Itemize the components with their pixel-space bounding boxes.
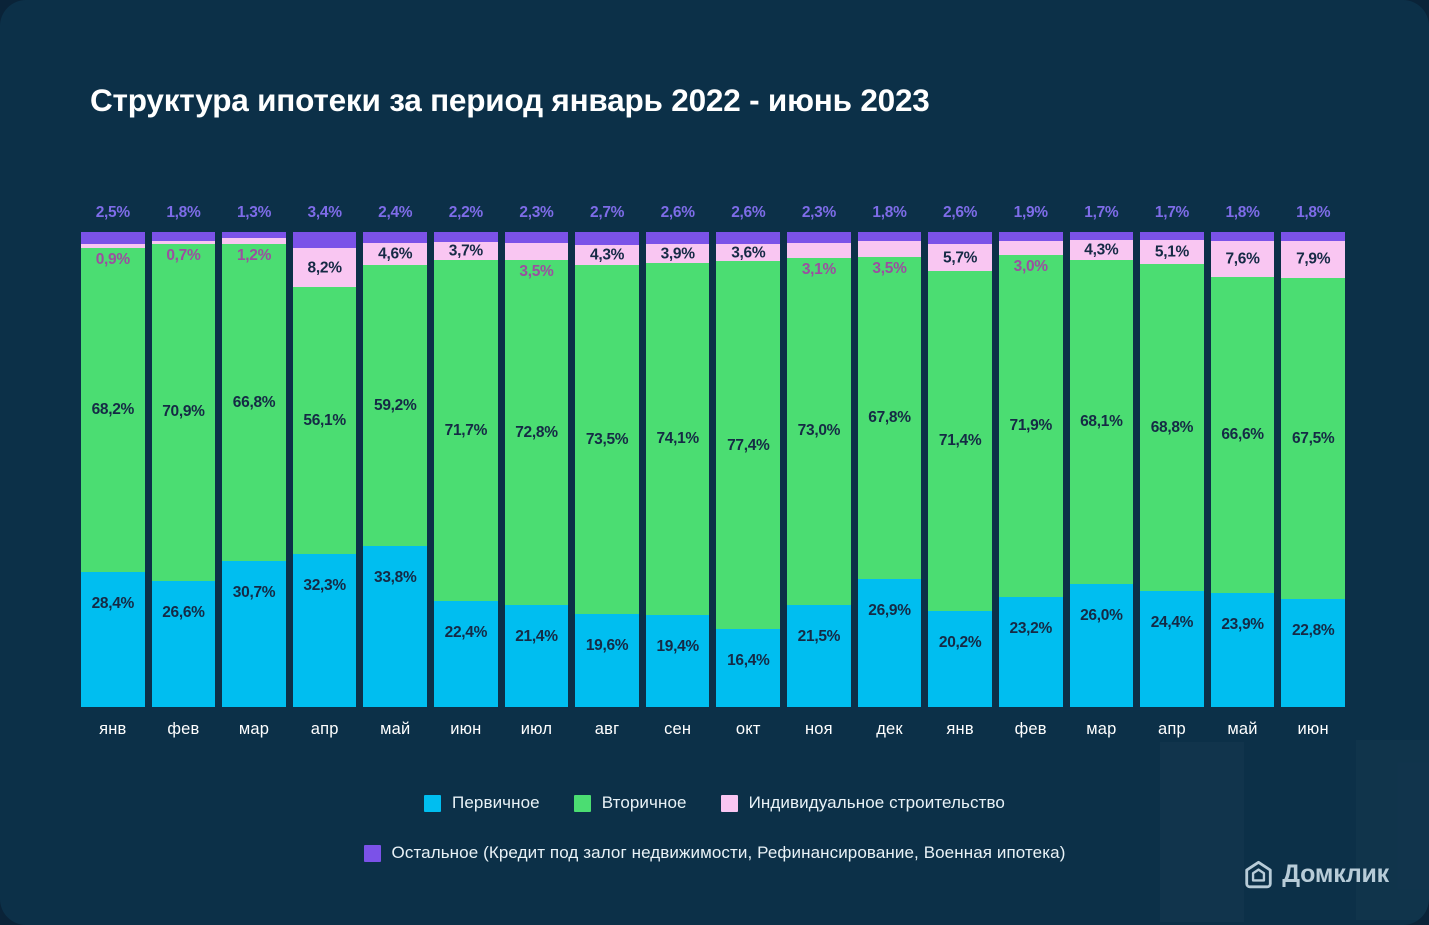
bar-segment-label-primary: 20,2% [939, 635, 981, 651]
x-axis-tick-дек-2022: дек [858, 720, 922, 739]
x-axis-tick-июл-2022: июл [505, 720, 569, 739]
bar-segment-label-secondary: 67,8% [868, 410, 910, 426]
bar-column[interactable]: 2,6%3,9%74,1%19,4% [646, 232, 710, 707]
bar-segment-label-izhs: 3,6% [731, 245, 765, 261]
bar-segment-primary[interactable]: 23,9% [1211, 593, 1275, 707]
bar-segment-label-other: 2,3% [802, 205, 836, 221]
bar-segment-label-primary: 33,8% [374, 570, 416, 586]
bar-segment-primary[interactable]: 21,4% [505, 605, 569, 707]
legend-label: Вторичное [602, 793, 687, 813]
bar-segment-label-izhs: 5,7% [943, 250, 977, 266]
bar-segment-label-other: 1,8% [1225, 205, 1259, 221]
bar-segment-label-other: 2,2% [449, 205, 483, 221]
bar-segment-label-secondary: 73,0% [798, 423, 840, 439]
x-axis-tick-фев-2022: фев [152, 720, 216, 739]
bar-segment-primary[interactable]: 26,0% [1070, 584, 1134, 707]
bar-segment-izhs[interactable]: 7,9% [1281, 241, 1345, 279]
bar-segment-other[interactable] [1070, 232, 1134, 240]
bar-segment-label-secondary: 71,4% [939, 433, 981, 449]
bar-segment-primary[interactable]: 33,8% [363, 546, 427, 707]
bar-segment-primary[interactable]: 30,7% [222, 561, 286, 707]
bar-segment-primary[interactable]: 23,2% [999, 597, 1063, 707]
bar-segment-secondary[interactable]: 73,5% [575, 265, 639, 614]
bar-segment-label-secondary: 72,8% [515, 425, 557, 441]
bar-segment-label-other: 2,7% [590, 205, 624, 221]
bar-segment-label-primary: 26,0% [1080, 608, 1122, 624]
bar-segment-other[interactable] [928, 232, 992, 244]
bar-segment-label-izhs: 0,7% [166, 248, 200, 264]
legend-label: Остальное (Кредит под залог недвижимости… [392, 843, 1066, 863]
house-pentagon-icon [1244, 860, 1273, 889]
bar-segment-label-izhs: 0,9% [96, 252, 130, 268]
bar-segment-label-izhs: 4,3% [1084, 243, 1118, 259]
bar-segment-other[interactable] [434, 232, 498, 242]
bar-segment-label-izhs: 3,1% [802, 262, 836, 278]
bar-segment-secondary[interactable]: 70,9% [152, 244, 216, 581]
bar-segment-label-other: 1,8% [872, 205, 906, 221]
bar-segment-other[interactable] [81, 232, 145, 244]
bar-segment-secondary[interactable]: 71,4% [928, 271, 992, 610]
bar-column[interactable]: 3,4%8,2%56,1%32,3% [293, 232, 357, 707]
bar-segment-primary[interactable]: 26,6% [152, 581, 216, 707]
bar-segment-primary[interactable]: 19,4% [646, 615, 710, 707]
legend-item-2[interactable]: Индивидуальное строительство [721, 793, 1005, 813]
bar-segment-label-izhs: 4,3% [590, 247, 624, 263]
bar-column[interactable]: 1,8%3,5%67,8%26,9% [858, 232, 922, 707]
bar-segment-secondary[interactable]: 56,1% [293, 287, 357, 553]
bar-segment-label-secondary: 71,9% [1010, 418, 1052, 434]
bar-column[interactable]: 1,8%7,6%66,6%23,9% [1211, 232, 1275, 707]
bar-segment-izhs[interactable]: 3,6% [716, 244, 780, 261]
bar-segment-label-secondary: 68,1% [1080, 414, 1122, 430]
bar-segment-secondary[interactable]: 68,8% [1140, 264, 1204, 591]
bar-segment-label-primary: 23,2% [1010, 621, 1052, 637]
bar-segment-primary[interactable]: 26,9% [858, 579, 922, 707]
bar-segment-label-secondary: 74,1% [656, 431, 698, 447]
bar-segment-label-izhs: 3,0% [1014, 259, 1048, 275]
bar-segment-label-izhs: 4,6% [378, 247, 412, 263]
legend-row-primary: ПервичноеВторичноеИндивидуальное строите… [0, 793, 1429, 813]
x-axis-tick-окт-2022: окт [716, 720, 780, 739]
chart-card: Структура ипотеки за период январь 2022 … [0, 0, 1429, 925]
bar-column[interactable]: 1,8%0,7%70,9%26,6% [152, 232, 216, 707]
bar-column[interactable]: 1,7%5,1%68,8%24,4% [1140, 232, 1204, 707]
bar-segment-primary[interactable]: 19,6% [575, 614, 639, 707]
legend-swatch-icon [574, 795, 591, 812]
bar-segment-secondary[interactable]: 72,8% [505, 260, 569, 606]
bar-segment-other[interactable] [363, 232, 427, 243]
bar-segment-label-secondary: 71,7% [445, 423, 487, 439]
bar-segment-label-secondary: 56,1% [303, 413, 345, 429]
bar-segment-secondary[interactable]: 59,2% [363, 265, 427, 546]
bar-segment-label-secondary: 66,6% [1221, 427, 1263, 443]
bar-segment-label-primary: 26,6% [162, 605, 204, 621]
bar-segment-label-other: 2,3% [519, 205, 553, 221]
x-axis-tick-май-2023: май [1211, 720, 1275, 739]
bar-segment-izhs[interactable]: 4,3% [1070, 240, 1134, 260]
legend-row-secondary: Остальное (Кредит под залог недвижимости… [0, 843, 1429, 863]
bar-segment-label-other: 2,6% [731, 205, 765, 221]
bar-segment-izhs[interactable]: 7,6% [1211, 241, 1275, 277]
bar-column[interactable]: 1,7%4,3%68,1%26,0% [1070, 232, 1134, 707]
bar-segment-secondary[interactable]: 68,1% [1070, 260, 1134, 583]
bar-segment-izhs[interactable]: 8,2% [293, 248, 357, 287]
bar-segment-secondary[interactable]: 71,9% [999, 255, 1063, 597]
bar-segment-secondary[interactable]: 77,4% [716, 261, 780, 629]
bar-segment-label-secondary: 77,4% [727, 438, 769, 454]
x-axis-tick-мар-2023: мар [1070, 720, 1134, 739]
bar-segment-other[interactable] [858, 232, 922, 241]
bar-segment-label-izhs: 3,9% [661, 246, 695, 262]
stacked-bar-plot-area: 2,5%0,9%68,2%28,4%1,8%0,7%70,9%26,6%1,3%… [81, 232, 1345, 707]
bar-segment-label-other: 1,7% [1084, 205, 1118, 221]
bar-segment-label-secondary: 70,9% [162, 404, 204, 420]
background-watermark-panel-secondary [1160, 742, 1244, 922]
bar-segment-label-primary: 21,5% [798, 629, 840, 645]
bar-segment-label-secondary: 68,2% [92, 402, 134, 418]
bar-segment-label-secondary: 59,2% [374, 398, 416, 414]
x-axis-month-labels: янвфевмарапрмайиюниюлавгсеноктноядекянвф… [81, 720, 1345, 739]
bar-segment-label-izhs: 8,2% [308, 260, 342, 276]
bar-segment-label-other: 1,9% [1014, 205, 1048, 221]
legend-item-other-0[interactable]: Остальное (Кредит под залог недвижимости… [364, 843, 1066, 863]
bar-column[interactable]: 1,3%1,2%66,8%30,7% [222, 232, 286, 707]
bar-segment-secondary[interactable]: 66,8% [222, 244, 286, 561]
bar-segment-secondary[interactable]: 68,2% [81, 248, 145, 572]
bar-segment-primary[interactable]: 20,2% [928, 611, 992, 707]
bar-segment-primary[interactable]: 16,4% [716, 629, 780, 707]
bar-segment-label-primary: 22,8% [1292, 623, 1334, 639]
bar-segment-label-other: 2,4% [378, 205, 412, 221]
bar-column[interactable]: 2,6%3,6%77,4%16,4% [716, 232, 780, 707]
bar-segment-izhs[interactable]: 4,3% [575, 245, 639, 265]
bar-segment-other[interactable] [152, 232, 216, 241]
x-axis-tick-мар-2022: мар [222, 720, 286, 739]
x-axis-tick-янв-2023: янв [928, 720, 992, 739]
brand-name: Домклик [1282, 860, 1389, 889]
bar-segment-primary[interactable]: 28,4% [81, 572, 145, 707]
bar-segment-label-other: 2,6% [943, 205, 977, 221]
bar-segment-other[interactable] [999, 232, 1063, 241]
bar-segment-label-other: 1,8% [1296, 205, 1330, 221]
bar-column[interactable]: 1,9%3,0%71,9%23,2% [999, 232, 1063, 707]
legend-swatch-icon [364, 845, 381, 862]
bar-segment-izhs[interactable]: 3,9% [646, 244, 710, 263]
bar-segment-label-primary: 24,4% [1151, 615, 1193, 631]
bar-column[interactable]: 2,6%5,7%71,4%20,2% [928, 232, 992, 707]
bar-segment-label-izhs: 3,5% [519, 264, 553, 280]
bar-segment-izhs[interactable]: 5,7% [928, 244, 992, 271]
x-axis-tick-янв-2022: янв [81, 720, 145, 739]
bar-segment-primary[interactable]: 32,3% [293, 554, 357, 707]
bar-segment-izhs[interactable]: 3,5% [505, 243, 569, 260]
bar-column[interactable]: 2,7%4,3%73,5%19,6% [575, 232, 639, 707]
bar-segment-label-primary: 22,4% [445, 625, 487, 641]
bar-segment-label-izhs: 3,7% [449, 243, 483, 259]
bar-segment-label-izhs: 7,6% [1225, 251, 1259, 267]
bar-column[interactable]: 1,8%7,9%67,5%22,8% [1281, 232, 1345, 707]
bar-segment-primary[interactable]: 22,8% [1281, 599, 1345, 707]
bar-segment-label-secondary: 67,5% [1292, 431, 1334, 447]
bar-column[interactable]: 2,4%4,6%59,2%33,8% [363, 232, 427, 707]
x-axis-tick-апр-2023: апр [1140, 720, 1204, 739]
bar-segment-label-primary: 19,6% [586, 638, 628, 654]
x-axis-tick-фев-2023: фев [999, 720, 1063, 739]
bar-segment-label-izhs: 3,5% [872, 261, 906, 277]
bar-segment-label-primary: 16,4% [727, 653, 769, 669]
legend-item-1[interactable]: Вторичное [574, 793, 687, 813]
bar-segment-secondary[interactable]: 66,6% [1211, 277, 1275, 594]
bar-segment-label-other: 2,6% [661, 205, 695, 221]
legend-item-0[interactable]: Первичное [424, 793, 540, 813]
bar-segment-label-other: 2,5% [96, 205, 130, 221]
bar-segment-izhs[interactable]: 3,5% [858, 241, 922, 258]
bar-segment-secondary[interactable]: 67,5% [1281, 278, 1345, 599]
bar-segment-izhs[interactable]: 5,1% [1140, 240, 1204, 264]
bar-column[interactable]: 2,3%3,5%72,8%21,4% [505, 232, 569, 707]
bar-segment-label-primary: 28,4% [92, 596, 134, 612]
x-axis-tick-авг-2022: авг [575, 720, 639, 739]
bar-segment-other[interactable] [1211, 232, 1275, 241]
bar-segment-label-other: 1,3% [237, 205, 271, 221]
x-axis-tick-июн-2023: июн [1281, 720, 1345, 739]
bar-segment-label-primary: 26,9% [868, 603, 910, 619]
bar-column[interactable]: 2,5%0,9%68,2%28,4% [81, 232, 145, 707]
bar-segment-secondary[interactable]: 67,8% [858, 257, 922, 579]
x-axis-tick-сен-2022: сен [646, 720, 710, 739]
bar-segment-izhs[interactable]: 3,7% [434, 242, 498, 260]
bar-segment-label-secondary: 73,5% [586, 432, 628, 448]
domclick-logo: Домклик [1244, 860, 1389, 889]
bar-segment-secondary[interactable]: 73,0% [787, 258, 851, 605]
bar-segment-label-izhs: 1,2% [237, 248, 271, 264]
bar-segment-izhs[interactable]: 3,1% [787, 243, 851, 258]
bar-segment-other[interactable] [716, 232, 780, 244]
bar-segment-secondary[interactable]: 74,1% [646, 263, 710, 615]
bar-segment-other[interactable] [293, 232, 357, 248]
bar-segment-other[interactable] [575, 232, 639, 245]
bar-segment-primary[interactable]: 21,5% [787, 605, 851, 707]
bar-segment-izhs[interactable]: 3,0% [999, 241, 1063, 255]
x-axis-tick-ноя-2022: ноя [787, 720, 851, 739]
x-axis-tick-апр-2022: апр [293, 720, 357, 739]
bar-segment-label-other: 1,8% [166, 205, 200, 221]
bar-segment-label-primary: 23,9% [1221, 617, 1263, 633]
x-axis-tick-июн-2022: июн [434, 720, 498, 739]
bar-column[interactable]: 2,2%3,7%71,7%22,4% [434, 232, 498, 707]
bar-segment-secondary[interactable]: 71,7% [434, 260, 498, 601]
bar-segment-other[interactable] [646, 232, 710, 244]
bar-segment-primary[interactable]: 24,4% [1140, 591, 1204, 707]
chart-title: Структура ипотеки за период январь 2022 … [90, 82, 930, 119]
bar-segment-label-izhs: 5,1% [1155, 244, 1189, 260]
bar-segment-label-secondary: 66,8% [233, 395, 275, 411]
bar-segment-label-secondary: 68,8% [1151, 420, 1193, 436]
bar-segment-other[interactable] [787, 232, 851, 243]
bar-segment-label-primary: 21,4% [515, 629, 557, 645]
bar-segment-other[interactable] [1281, 232, 1345, 241]
bar-segment-label-primary: 32,3% [303, 578, 345, 594]
bar-segment-primary[interactable]: 22,4% [434, 601, 498, 707]
background-watermark-panel [1356, 740, 1429, 920]
bar-segment-label-izhs: 7,9% [1296, 252, 1330, 268]
legend-label: Первичное [452, 793, 540, 813]
bar-segment-label-other: 1,7% [1155, 205, 1189, 221]
bar-segment-other[interactable] [1140, 232, 1204, 240]
legend-label: Индивидуальное строительство [749, 793, 1005, 813]
bar-column[interactable]: 2,3%3,1%73,0%21,5% [787, 232, 851, 707]
bar-segment-other[interactable] [505, 232, 569, 243]
legend-swatch-icon [721, 795, 738, 812]
bar-segment-izhs[interactable]: 4,6% [363, 243, 427, 265]
bar-segment-label-other: 3,4% [308, 205, 342, 221]
legend-swatch-icon [424, 795, 441, 812]
bar-segment-label-primary: 30,7% [233, 585, 275, 601]
bar-segment-label-primary: 19,4% [656, 639, 698, 655]
x-axis-tick-май-2022: май [363, 720, 427, 739]
